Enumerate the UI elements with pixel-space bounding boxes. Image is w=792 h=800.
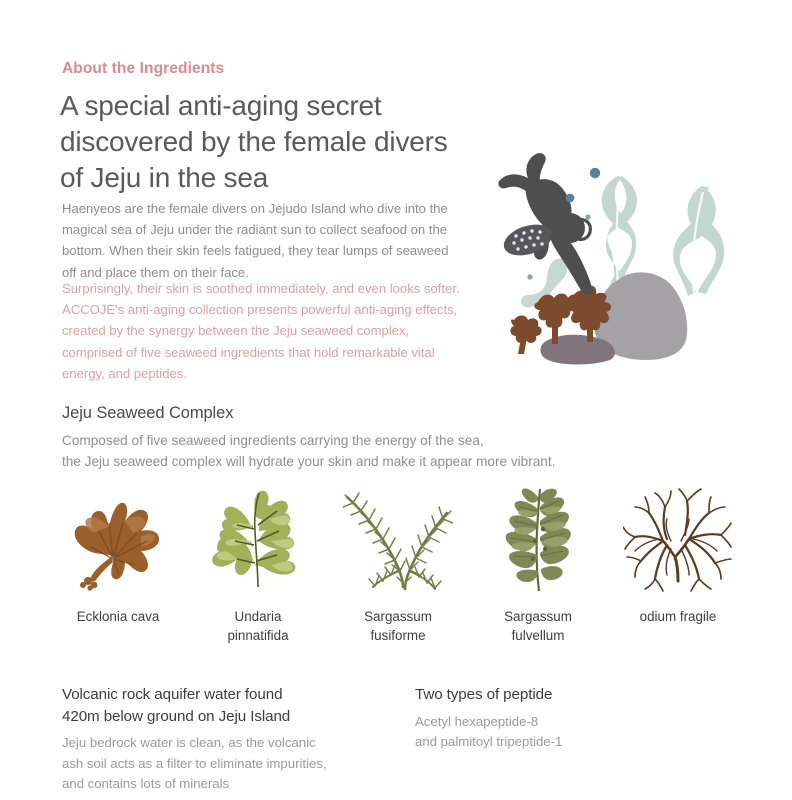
peptide-title: Two types of peptide [415, 684, 735, 706]
seaweed-item-ecklonia-cava: Ecklonia cava [48, 478, 188, 626]
volcanic-water-body: Jeju bedrock water is clean, as the volc… [62, 733, 392, 795]
seaweed-ingredient-list: Ecklonia cava [48, 478, 748, 653]
page-title: A special anti-aging secret discovered b… [60, 88, 470, 195]
about-ingredients-eyebrow: About the Ingredients [62, 60, 224, 78]
seaweed-label: Sargassum fulvellum [504, 607, 572, 645]
peptide-block: Two types of peptide Acetyl hexapeptide-… [415, 684, 735, 753]
jeju-seaweed-complex-title: Jeju Seaweed Complex [62, 404, 233, 423]
seaweed-label: Ecklonia cava [77, 607, 160, 626]
codium-fragile-icon [618, 478, 738, 593]
seaweed-item-codium-fragile: odium fragile [608, 478, 748, 626]
volcanic-water-block: Volcanic rock aquifer water found 420m b… [62, 684, 392, 795]
seaweed-label: odium fragile [640, 607, 717, 626]
seaweed-label: Undaria pinnatifida [227, 607, 288, 645]
seaweed-item-sargassum-fulvellum: Sargassum fulvellum [468, 478, 608, 645]
intro-paragraph-pink: Surprisingly, their skin is soothed imme… [62, 278, 462, 384]
peptide-body: Acetyl hexapeptide-8 and palmitoyl tripe… [415, 712, 735, 753]
complex-description-line-2: the Jeju seaweed complex will hydrate yo… [62, 451, 762, 472]
haenyeo-diver-illustration [466, 132, 766, 382]
complex-description-line-1: Composed of five seaweed ingredients car… [62, 430, 762, 451]
ecklonia-cava-icon [58, 478, 178, 593]
intro-paragraph-gray: Haenyeos are the female divers on Jejudo… [62, 198, 457, 283]
undaria-pinnatifida-icon [198, 478, 318, 593]
sargassum-fulvellum-icon [478, 478, 598, 593]
sargassum-fusiforme-icon [338, 478, 458, 593]
seaweed-item-undaria-pinnatifida: Undaria pinnatifida [188, 478, 328, 645]
volcanic-water-title: Volcanic rock aquifer water found 420m b… [62, 684, 392, 727]
jeju-seaweed-complex-description: Composed of five seaweed ingredients car… [62, 430, 762, 473]
ingredients-infographic-page: About the Ingredients A special anti-agi… [0, 0, 792, 800]
seaweed-label: Sargassum fusiforme [364, 607, 432, 645]
diver-figure [498, 153, 592, 295]
seaweed-item-sargassum-fusiforme: Sargassum fusiforme [328, 478, 468, 645]
